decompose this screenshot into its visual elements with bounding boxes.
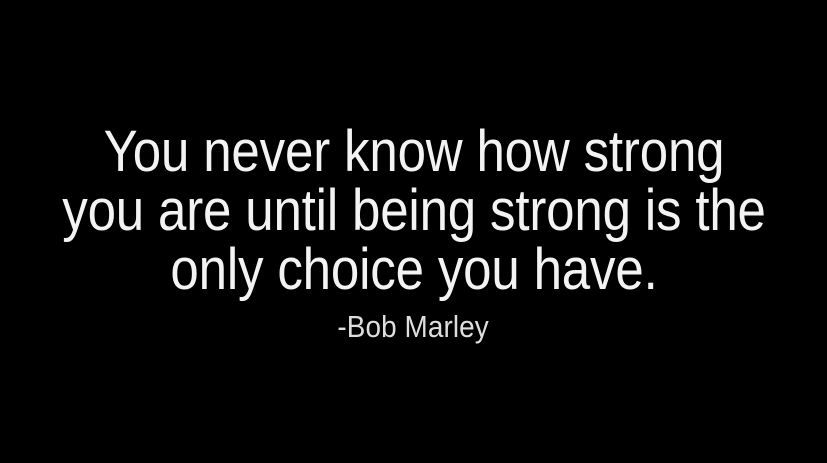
quote-text: You never know how strong you are until … <box>62 122 766 299</box>
quote-line-1: You never know how strong <box>62 122 766 181</box>
quote-card: You never know how strong you are until … <box>0 0 827 463</box>
quote-line-2: you are until being strong is the <box>62 181 766 240</box>
quote-line-3: only choice you have. <box>62 240 766 299</box>
quote-attribution: -Bob Marley <box>338 310 489 344</box>
